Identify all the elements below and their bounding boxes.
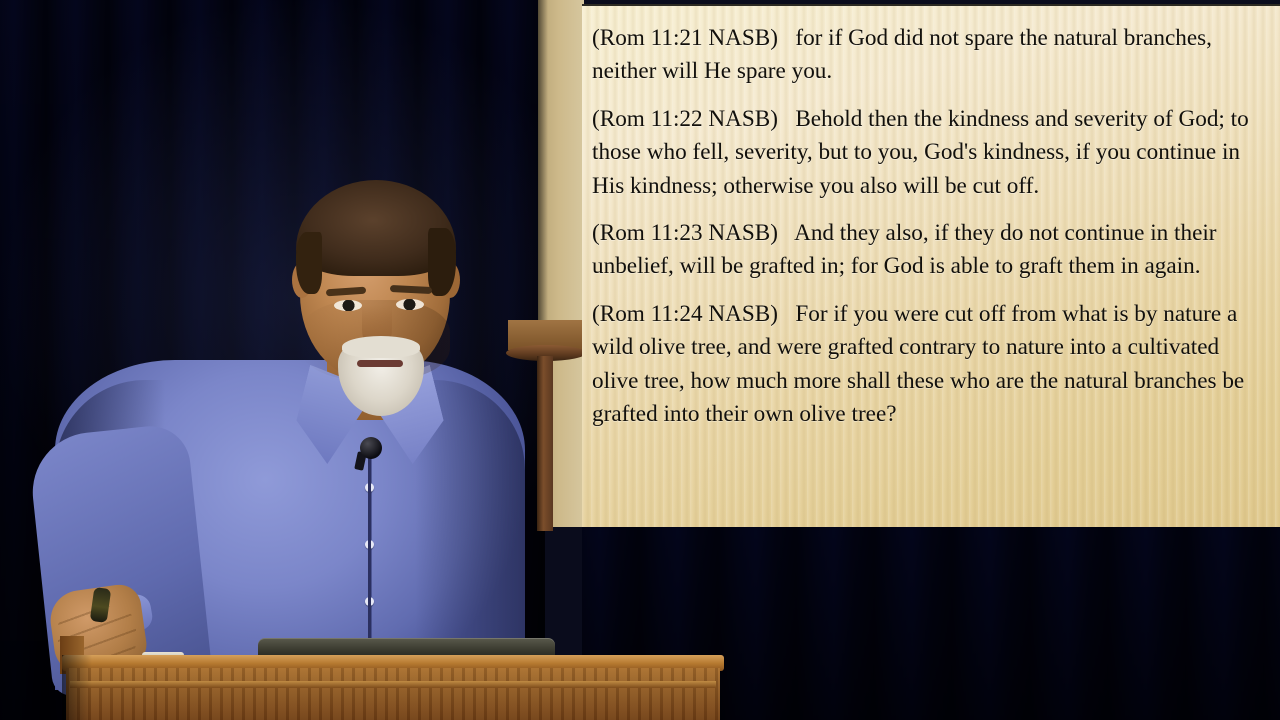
verse-block: (Rom 11:23 NASB) And they also, if they … [592,217,1262,284]
lavalier-microphone-icon [360,437,382,459]
verse-reference: (Rom 11:23 NASB) [592,220,778,246]
podium-side-shadow [62,655,92,720]
eye-left [334,300,362,311]
scripture-slide-content: (Rom 11:21 NASB) for if God did not spar… [592,22,1262,431]
verse-reference: (Rom 11:22 NASB) [592,106,778,132]
verse-spacer [784,301,796,327]
mustache [342,336,420,358]
eye-right [396,299,424,310]
mouth [357,360,403,367]
verse-reference: (Rom 11:24 NASB) [592,301,778,327]
speaker-figure [0,0,545,720]
verse-spacer [784,106,796,132]
video-frame: (Rom 11:21 NASB) for if God did not spar… [0,0,1280,720]
microphone-cable [368,458,371,663]
speaker-hair-side-right [428,228,456,296]
verse-reference: (Rom 11:21 NASB) [592,25,778,51]
verse-block: (Rom 11:24 NASB) For if you were cut off… [592,298,1262,432]
verse-spacer [784,220,794,246]
verse-spacer [784,25,796,51]
verse-block: (Rom 11:22 NASB) Behold then the kindnes… [592,103,1262,203]
podium-molding-lip [70,681,716,688]
podium-wood-grain [66,668,720,720]
speaker-hair-side-left [296,232,322,294]
scripture-slide-panel: (Rom 11:21 NASB) for if God did not spar… [582,4,1280,527]
verse-block: (Rom 11:21 NASB) for if God did not spar… [592,22,1262,89]
